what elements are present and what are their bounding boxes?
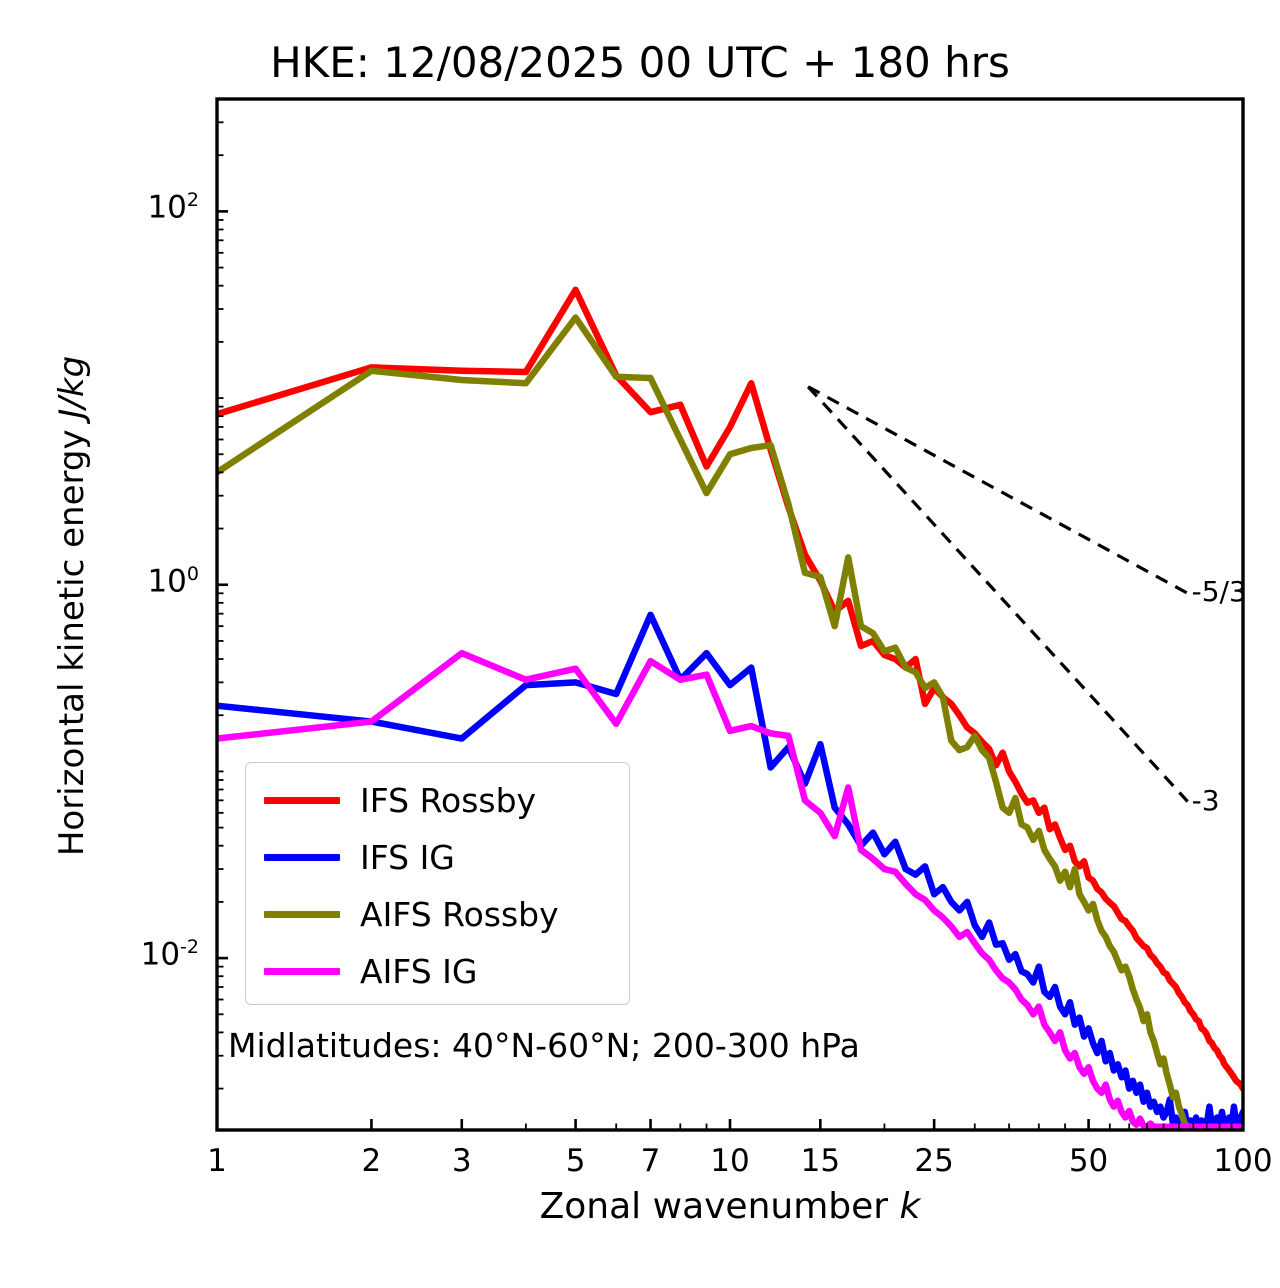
x-tick-label: 2 bbox=[326, 1143, 416, 1179]
x-tick-label: 3 bbox=[417, 1143, 507, 1179]
slope-label--3: -3 bbox=[1192, 784, 1220, 817]
legend-color-swatch bbox=[264, 968, 340, 975]
x-tick-label: 15 bbox=[775, 1143, 865, 1179]
y-tick-label: 102 bbox=[79, 189, 199, 225]
x-tick-label: 50 bbox=[1044, 1143, 1134, 1179]
legend-label: IFS IG bbox=[360, 838, 455, 877]
chart-legend: IFS RossbyIFS IGAIFS RossbyAIFS IG bbox=[245, 762, 630, 1005]
legend-item[interactable]: AIFS IG bbox=[246, 943, 629, 1000]
legend-color-swatch bbox=[264, 854, 340, 861]
legend-item[interactable]: AIFS Rossby bbox=[246, 886, 629, 943]
legend-color-swatch bbox=[264, 911, 340, 918]
x-tick-label: 7 bbox=[606, 1143, 696, 1179]
legend-item[interactable]: IFS Rossby bbox=[246, 772, 629, 829]
slope-line--5-3 bbox=[808, 387, 1188, 594]
y-tick-label: 100 bbox=[79, 563, 199, 599]
x-tick-label: 25 bbox=[889, 1143, 979, 1179]
slope-label--5-3: -5/3 bbox=[1192, 575, 1247, 608]
chart-figure: HKE: 12/08/2025 00 UTC + 180 hrs Horizon… bbox=[0, 0, 1280, 1288]
x-tick-label: 1 bbox=[172, 1143, 262, 1179]
slope-line--3 bbox=[808, 387, 1188, 802]
y-tick-label: 10-2 bbox=[79, 936, 199, 972]
legend-label: AIFS Rossby bbox=[360, 895, 559, 934]
slope-reference-lines bbox=[808, 387, 1188, 802]
region-annotation: Midlatitudes: 40°N-60°N; 200-300 hPa bbox=[228, 1026, 860, 1065]
x-tick-label: 10 bbox=[685, 1143, 775, 1179]
legend-label: AIFS IG bbox=[360, 952, 477, 991]
legend-color-swatch bbox=[264, 797, 340, 804]
legend-label: IFS Rossby bbox=[360, 781, 536, 820]
legend-item[interactable]: IFS IG bbox=[246, 829, 629, 886]
x-tick-label: 100 bbox=[1198, 1143, 1280, 1179]
